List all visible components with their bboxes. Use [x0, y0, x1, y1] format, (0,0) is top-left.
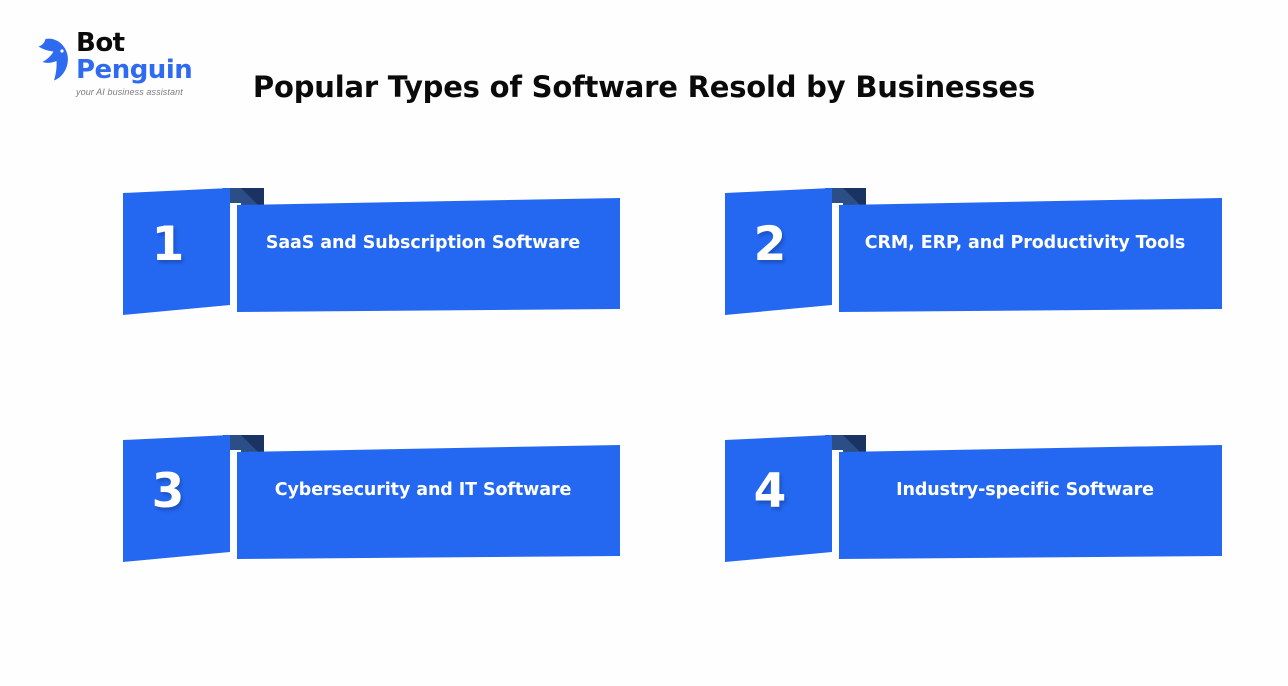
card-label: SaaS and Subscription Software	[238, 231, 608, 255]
card-number: 3	[118, 464, 218, 520]
info-card[interactable]: 3 Cybersecurity and IT Software	[118, 432, 623, 607]
cards-grid: 1 SaaS and Subscription Software 2 CRM, …	[0, 0, 1288, 686]
info-card[interactable]: 2 CRM, ERP, and Productivity Tools	[720, 185, 1225, 360]
info-card[interactable]: 1 SaaS and Subscription Software	[118, 185, 623, 360]
card-label: Cybersecurity and IT Software	[238, 478, 608, 502]
card-label-panel	[237, 445, 620, 559]
card-number: 4	[720, 464, 820, 520]
card-label-panel	[839, 445, 1222, 559]
card-label: CRM, ERP, and Productivity Tools	[840, 231, 1210, 255]
info-card[interactable]: 4 Industry-specific Software	[720, 432, 1225, 607]
card-label: Industry-specific Software	[840, 478, 1210, 502]
card-label-panel	[839, 198, 1222, 312]
card-number: 2	[720, 217, 820, 273]
card-number: 1	[118, 217, 218, 273]
card-label-panel	[237, 198, 620, 312]
